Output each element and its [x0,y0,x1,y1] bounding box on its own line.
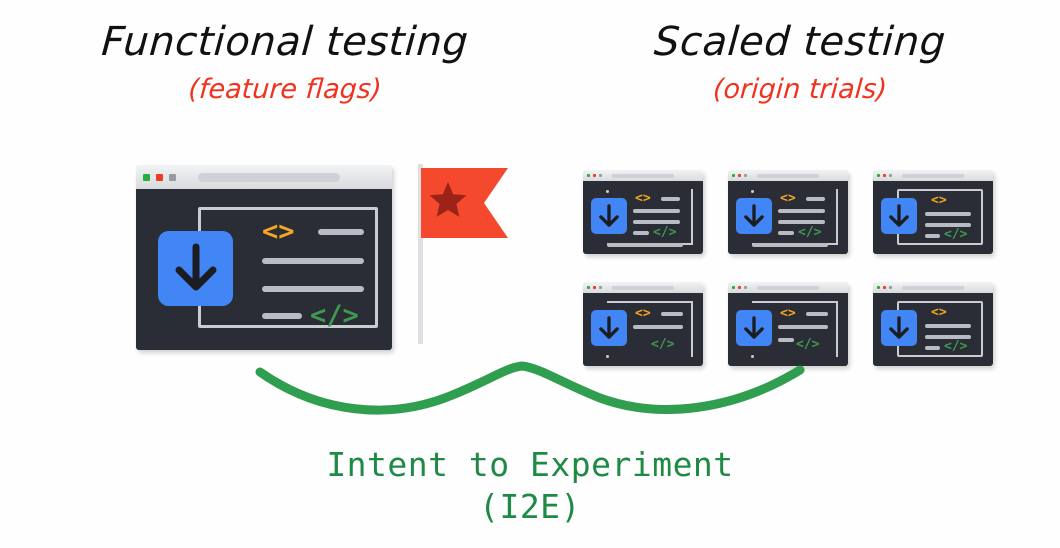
mini-window: <> </> [873,170,993,254]
address-bar[interactable] [902,286,964,290]
window-dot-gray-icon [599,174,602,177]
content-line [778,231,794,235]
browser-content-area: <> </> [136,189,392,350]
close-tag-glyph: </> [653,226,676,239]
window-dot-red-icon [593,286,596,289]
i2e-caption: Intent to Experiment (I2E) [0,444,1060,528]
heading-functional-testing: Functional testing (feature flags) [60,22,510,103]
mini-content-area: <> </> [873,293,993,366]
flag-with-star-icon [410,160,520,360]
window-dot-gray-icon [744,286,747,289]
heading-scaled-main: Scaled testing [619,22,982,62]
address-bar[interactable] [198,173,340,182]
open-tag-glyph: <> [780,307,796,320]
download-arrow-icon [743,204,765,229]
window-dot-red-icon [593,174,596,177]
content-line [806,197,825,201]
close-tag-glyph: </> [651,338,674,351]
content-line [778,325,828,329]
content-line [633,325,683,329]
download-badge [736,198,772,234]
browser-titlebar [136,165,392,189]
window-dot-gray-icon [889,286,892,289]
open-tag-glyph: <> [780,192,796,205]
content-line [925,346,940,350]
close-tag-glyph: </> [944,228,967,241]
heading-scaled-testing: Scaled testing (origin trials) [620,22,980,103]
close-tag-glyph: </> [944,340,967,353]
window-dot-red-icon [738,174,741,177]
feature-flag-browser-window: <> </> [136,165,392,350]
window-dot-gray-icon [744,174,747,177]
window-dot-green-icon [877,286,880,289]
open-tag-glyph: <> [931,194,947,207]
mini-content-area: <> </> [728,181,848,254]
i2e-caption-line2: (I2E) [0,486,1060,528]
mini-titlebar [728,170,848,181]
window-dot-gray-icon [889,174,892,177]
heading-scaled-sub: (origin trials) [619,76,981,103]
mini-titlebar [873,170,993,181]
content-line [661,312,683,316]
close-tag-glyph: </> [796,338,819,351]
content-line [806,312,828,316]
content-line [778,209,825,213]
content-line [262,258,364,264]
close-tag-glyph: </> [798,226,821,239]
content-line [925,212,971,216]
download-badge [591,198,627,234]
i2e-caption-line1: Intent to Experiment [326,445,733,484]
window-dot-green-icon [587,174,590,177]
download-badge [881,310,917,346]
close-tag-glyph: </> [310,302,359,329]
content-line [633,209,680,213]
window-dot-red-icon [738,286,741,289]
address-bar[interactable] [757,174,819,178]
feature-flag-banner [410,160,520,360]
content-line [262,286,364,292]
window-dot-green-icon [143,174,150,181]
content-line [661,197,680,201]
download-badge [881,198,917,234]
content-line [925,234,940,238]
open-tag-glyph: <> [635,307,651,320]
window-dot-gray-icon [169,174,176,181]
address-bar[interactable] [902,174,964,178]
address-bar[interactable] [612,286,674,290]
content-line [778,220,825,224]
content-line [925,324,971,328]
window-dot-gray-icon [599,286,602,289]
open-tag-glyph: <> [635,192,651,205]
content-line [262,313,302,319]
window-dot-green-icon [732,286,735,289]
content-line [318,229,364,235]
download-arrow-icon [743,316,765,341]
frame-dot-icon [606,190,609,193]
mini-titlebar [873,282,993,293]
download-badge [158,231,233,306]
i2e-connector-curve [250,352,810,422]
open-tag-glyph: <> [931,306,947,319]
content-line [607,243,683,247]
open-tag-glyph: <> [262,218,295,245]
window-dot-red-icon [883,174,886,177]
mini-window: <> </> [728,170,848,254]
diagram-canvas: Functional testing (feature flags) Scale… [0,0,1060,548]
mini-titlebar [583,170,703,181]
heading-functional-main: Functional testing [59,22,512,62]
download-arrow-icon [888,204,910,229]
download-badge [736,310,772,346]
content-line [633,220,680,224]
address-bar[interactable] [757,286,819,290]
download-arrow-icon [173,243,219,295]
frame-dot-icon [751,190,754,193]
download-badge [591,310,627,346]
mini-titlebar [728,282,848,293]
mini-content-area: <> </> [583,181,703,254]
mini-content-area: <> </> [873,181,993,254]
address-bar[interactable] [612,174,674,178]
content-line [752,243,828,247]
content-line [633,231,649,235]
window-dot-green-icon [587,286,590,289]
window-dot-red-icon [156,174,163,181]
download-arrow-icon [888,316,910,341]
window-dot-green-icon [877,174,880,177]
window-dot-red-icon [883,286,886,289]
mini-titlebar [583,282,703,293]
content-line [778,338,794,342]
mini-window: <> </> [583,170,703,254]
wavy-line-icon [250,352,810,422]
window-dot-green-icon [732,174,735,177]
heading-functional-sub: (feature flags) [59,76,511,103]
download-arrow-icon [598,316,620,341]
download-arrow-icon [598,204,620,229]
mini-window: <> </> [873,282,993,366]
